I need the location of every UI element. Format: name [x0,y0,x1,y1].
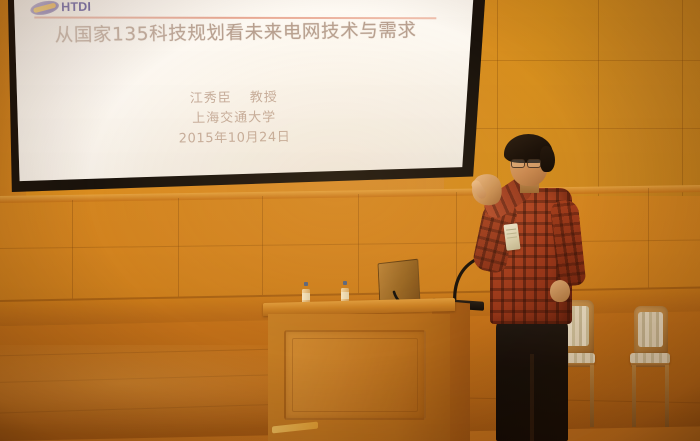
wainscot-seam [262,196,263,300]
wainscot-seam [178,198,179,300]
presenter-title: 教授 [250,90,278,105]
presenter-right-hand [550,280,570,302]
wainscot-seam [648,188,649,300]
slide-logo: HTDI [30,1,91,15]
slide-title: 从国家135科技规划看未来电网技术与需求 [20,18,450,49]
podium-panel-inner-bevel [292,338,418,412]
name-badge [503,223,520,251]
side-chair-right [624,306,684,436]
eyeglasses-bridge [525,162,529,163]
slide-content: HTDI 从国家135科技规划看未来电网技术与需求 江秀臣教授 上海交通大学 2… [0,0,469,186]
presentation-photo-scene: HTDI 从国家135科技规划看未来电网技术与需求 江秀臣教授 上海交通大学 2… [0,0,700,441]
presenter-leg-separation [530,354,534,441]
presenter [466,128,616,441]
slide-subtitle-block: 江秀臣教授 上海交通大学 2015年10月24日 [24,86,445,151]
water-bottle [302,282,310,304]
chair-leg [632,365,636,427]
wall-seam [444,60,700,61]
bottle-cap [343,281,348,285]
wainscot-seam [358,194,359,300]
presenter-name: 江秀臣 [190,91,232,107]
bottle-label [302,293,310,300]
wainscot-seam [72,200,73,300]
eyeglasses-left-lens-icon [511,159,525,168]
chair-leg [665,365,669,427]
bottle-label [341,292,349,299]
chair-apron [631,363,669,367]
bottle-cap [304,282,309,286]
eyeglasses-right-lens-icon [527,159,541,168]
slide-logo-text: HTDI [61,1,91,14]
chair-back-upholstery [638,312,663,347]
podium-front-panel [284,330,426,420]
htdi-ellipse-logo-icon [29,0,60,17]
presenter-hair-side [540,146,555,172]
wall-seam [682,0,683,214]
water-bottle [341,281,349,303]
